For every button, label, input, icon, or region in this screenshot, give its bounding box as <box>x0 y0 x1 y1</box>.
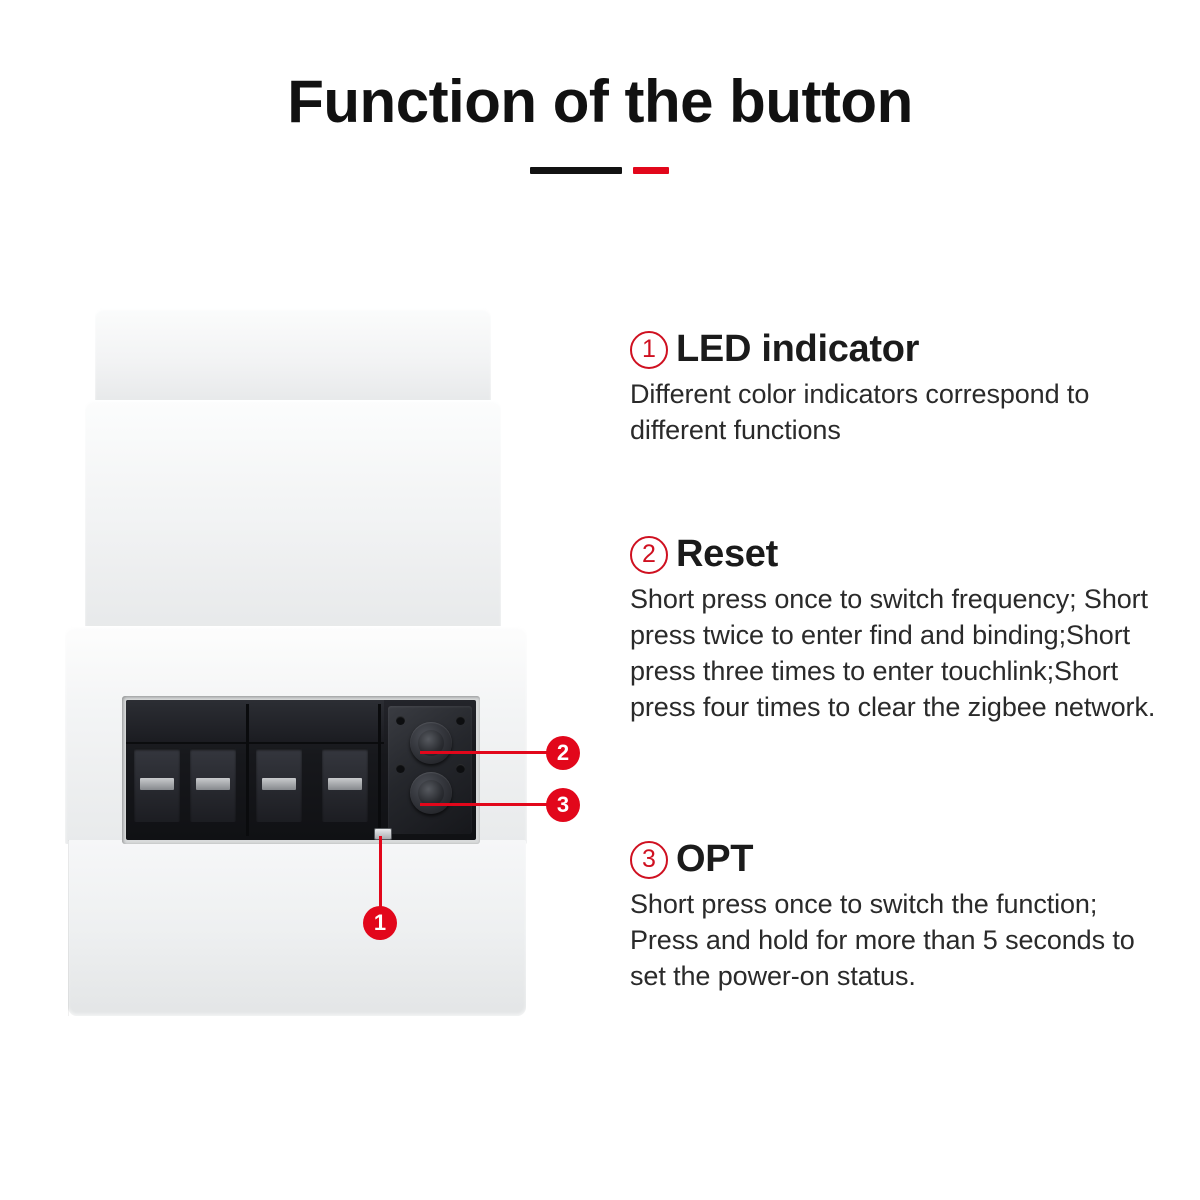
panel-screw-dot <box>456 716 465 725</box>
device-middle-tier <box>85 400 501 632</box>
device-photo: 2 3 1 <box>0 0 600 1200</box>
section-title-2: Reset <box>676 535 778 575</box>
callout-line-3 <box>420 803 548 806</box>
terminal-slot <box>190 748 236 822</box>
section-title-3: OPT <box>676 840 753 880</box>
callout-marker-1: 1 <box>363 906 397 940</box>
terminal-clamp <box>328 778 362 790</box>
led-indicator <box>374 828 392 840</box>
terminal-lip <box>126 700 384 744</box>
opt-button[interactable] <box>410 772 452 814</box>
terminal-slot <box>322 748 368 822</box>
device-base-seam <box>68 840 69 1016</box>
section-heading: 3 OPT <box>630 840 1170 880</box>
panel-screw-dot <box>396 716 405 725</box>
section-number-circle-2: 2 <box>630 536 668 574</box>
section-body-3: Short press once to switch the function;… <box>630 886 1170 994</box>
callout-line-1 <box>379 836 382 908</box>
section-heading: 2 Reset <box>630 535 1170 575</box>
callout-line-2 <box>420 751 548 754</box>
divider-bar-red <box>633 167 669 174</box>
terminal-clamp <box>140 778 174 790</box>
section-reset: 2 Reset Short press once to switch frequ… <box>630 535 1170 725</box>
panel-screw-dot <box>456 764 465 773</box>
section-number-circle-3: 3 <box>630 841 668 879</box>
terminal-slot <box>134 748 180 822</box>
terminal-clamp <box>196 778 230 790</box>
terminal-divider <box>246 704 249 836</box>
terminal-clamp <box>262 778 296 790</box>
device-base-block <box>68 840 526 1016</box>
callout-marker-3: 3 <box>546 788 580 822</box>
reset-button[interactable] <box>410 722 452 764</box>
section-number-circle-1: 1 <box>630 331 668 369</box>
callout-marker-2: 2 <box>546 736 580 770</box>
terminal-slot <box>256 748 302 822</box>
section-heading: 1 LED indicator <box>630 330 1170 370</box>
terminal-divider <box>378 704 381 836</box>
terminal-block <box>126 700 476 840</box>
device-top-cap <box>95 308 491 406</box>
section-title-1: LED indicator <box>676 330 919 370</box>
button-panel <box>388 706 472 834</box>
section-opt: 3 OPT Short press once to switch the fun… <box>630 840 1170 994</box>
panel-screw-dot <box>396 764 405 773</box>
section-body-1: Different color indicators correspond to… <box>630 376 1170 448</box>
section-body-2: Short press once to switch frequency; Sh… <box>630 581 1170 725</box>
section-led-indicator: 1 LED indicator Different color indicato… <box>630 330 1170 448</box>
